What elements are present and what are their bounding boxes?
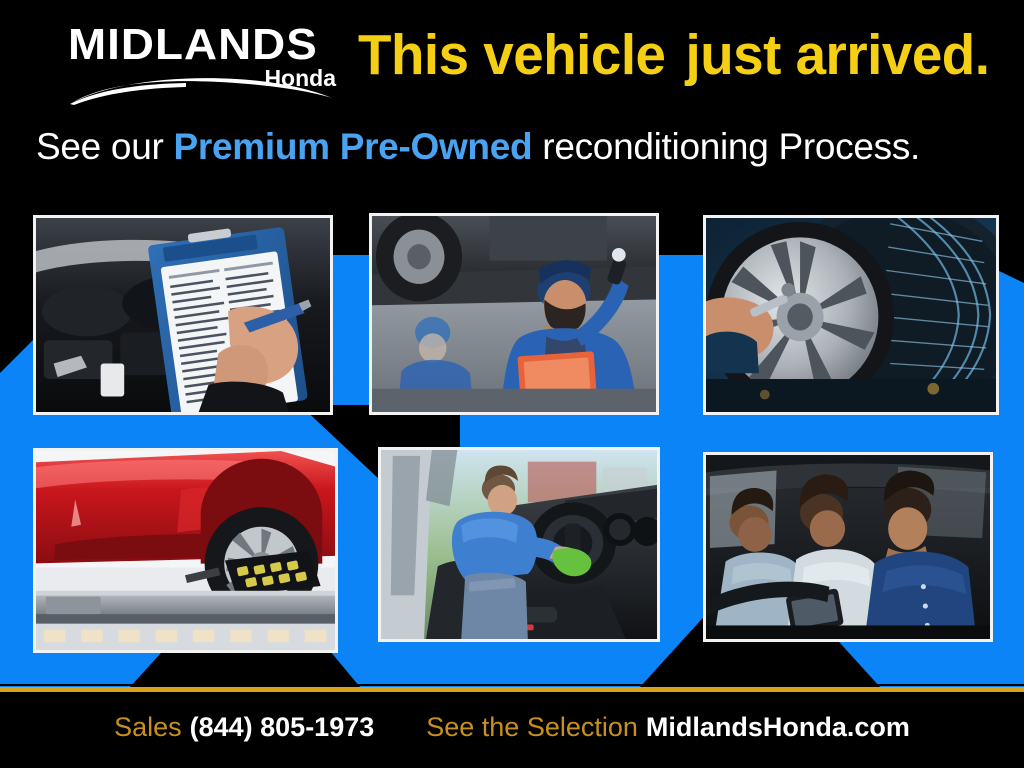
subheadline: See our Premium Pre-Owned reconditioning… <box>36 125 920 169</box>
selection-label: See the Selection <box>426 712 638 742</box>
subheadline-after: reconditioning Process. <box>532 126 920 167</box>
brand-name: MIDLANDS <box>68 22 349 68</box>
sales-phone[interactable]: (844) 805-1973 <box>190 712 375 742</box>
photo-customers[interactable] <box>703 452 993 642</box>
website-link[interactable]: MidlandsHonda.com <box>646 712 910 742</box>
photo-interior-cleaning[interactable] <box>378 447 660 642</box>
footer: Sales (844) 805-1973 See the Selection M… <box>0 692 1024 768</box>
photo-engine-checklist-image <box>36 218 330 412</box>
subheadline-before: See our <box>36 126 173 167</box>
headline-spacer <box>666 23 686 87</box>
photo-alignment[interactable] <box>33 448 338 653</box>
photo-undercarriage-image <box>372 216 656 412</box>
brand-logo[interactable]: MIDLANDS Honda <box>68 22 338 100</box>
ad-canvas: MIDLANDS Honda This vehicle just arrived… <box>0 0 1024 768</box>
photo-customers-image <box>706 455 990 639</box>
headline-part2: just arrived. <box>686 23 990 87</box>
photo-undercarriage[interactable] <box>369 213 659 415</box>
header: MIDLANDS Honda This vehicle just arrived… <box>0 0 1024 200</box>
swoosh-icon <box>68 78 334 106</box>
footer-contact-line: Sales (844) 805-1973 See the Selection M… <box>0 710 1024 744</box>
photo-wheel-tire[interactable] <box>703 215 999 415</box>
photo-engine-checklist[interactable] <box>33 215 333 415</box>
subheadline-highlight: Premium Pre-Owned <box>173 126 532 167</box>
page-title: This vehicle just arrived. <box>358 24 989 86</box>
photo-wheel-tire-image <box>706 218 996 412</box>
headline-part1: This vehicle <box>358 23 666 87</box>
sales-label: Sales <box>114 712 182 742</box>
footer-divider-shadow <box>0 684 1024 686</box>
photo-alignment-image <box>36 451 335 650</box>
photo-interior-cleaning-image <box>381 450 657 639</box>
